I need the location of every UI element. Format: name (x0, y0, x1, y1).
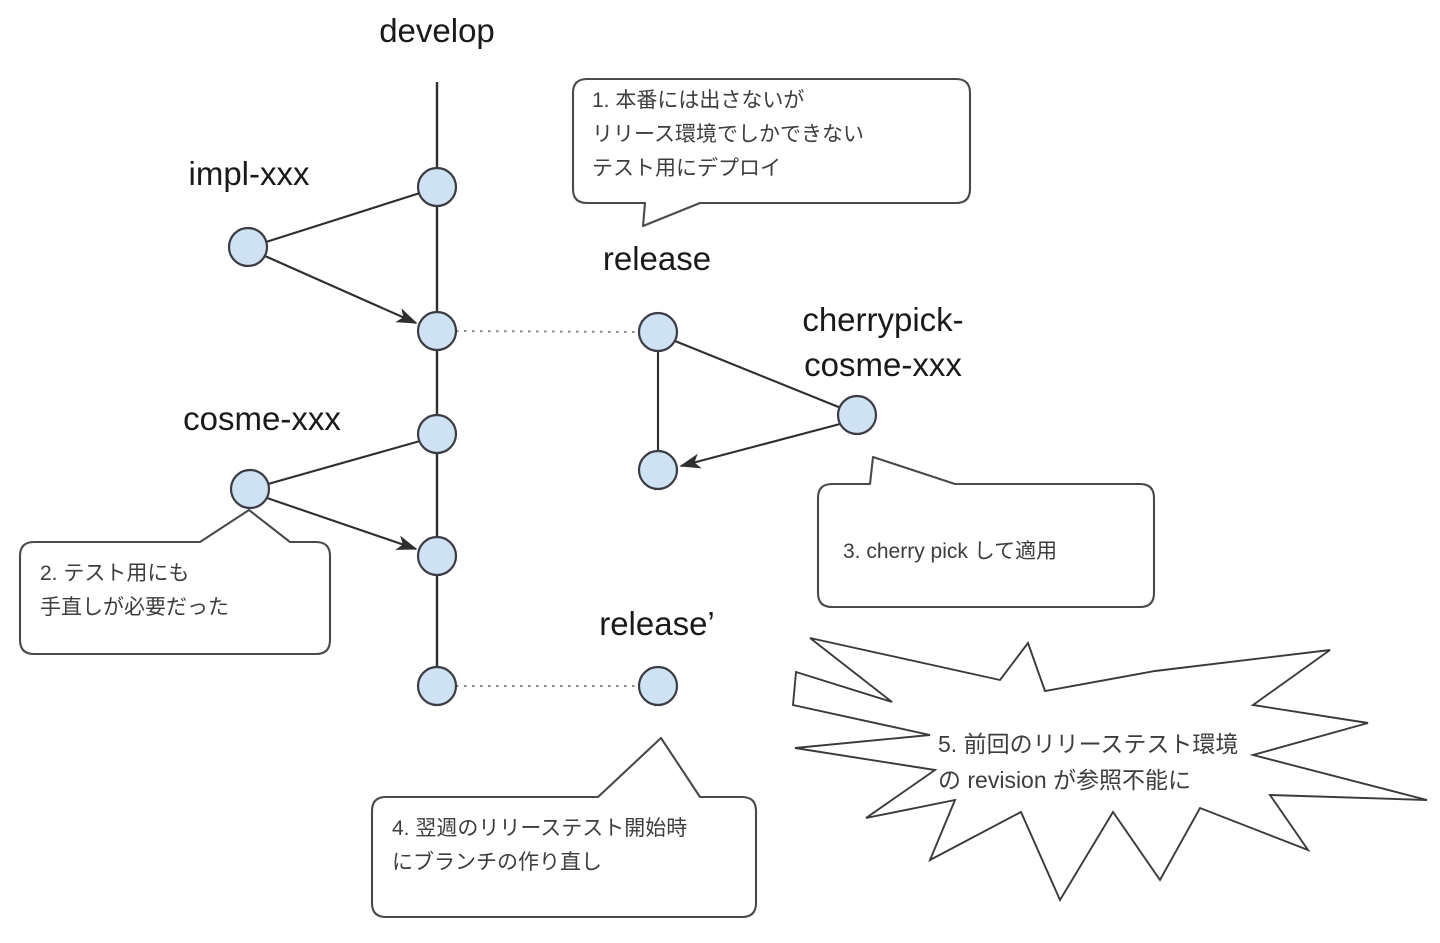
branch-label-release-prime: release’ (599, 605, 715, 642)
callout-2-line-1: 2. テスト用にも (40, 562, 189, 585)
cherrypick-commit-node[interactable] (838, 396, 876, 434)
release-commit-1-node[interactable] (639, 313, 677, 351)
callout-2[interactable]: 2. テスト用にも 手直しが必要だった (20, 510, 330, 654)
release-prime-commit-node[interactable] (639, 667, 677, 705)
develop-commit-5-node[interactable] (418, 667, 456, 705)
git-branch-diagram: develop impl-xxx release cherrypick- cos… (0, 0, 1440, 943)
branch-label-impl-xxx: impl-xxx (189, 155, 310, 192)
branch-label-cherrypick-line1: cherrypick- (802, 301, 963, 338)
cosme-commit-node[interactable] (231, 470, 269, 508)
callout-1-line-2: リリース環境でしかできない (592, 123, 864, 146)
branch-label-release: release (603, 240, 711, 277)
callout-3-line-1: 3. cherry pick して適用 (843, 540, 1057, 563)
branch-label-develop: develop (379, 12, 495, 49)
burst-5-line-2: の revision が参照不能に (938, 767, 1191, 793)
develop-commit-4-node[interactable] (418, 537, 456, 575)
callout-3[interactable]: 3. cherry pick して適用 (818, 457, 1154, 607)
callout-1[interactable]: 1. 本番には出さないが リリース環境でしかできない テスト用にデプロイ (573, 79, 970, 226)
branch-label-cherrypick-line2: cosme-xxx (804, 346, 962, 383)
branch-label-cosme-xxx: cosme-xxx (183, 400, 341, 437)
burst-5[interactable]: 5. 前回のリリーステスト環境 の revision が参照不能に (793, 638, 1427, 900)
cosme-branch-out-edge (268, 441, 420, 484)
cherrypick-merge-in-edge (681, 424, 840, 466)
callout-4-line-1: 4. 翌週のリリーステスト開始時 (392, 817, 687, 840)
callout-3-bubble (818, 457, 1154, 607)
impl-commit-node[interactable] (229, 228, 267, 266)
callout-1-line-1: 1. 本番には出さないが (592, 89, 804, 112)
release-commit-2-node[interactable] (639, 451, 677, 489)
burst-5-line-1: 5. 前回のリリーステスト環境 (938, 731, 1238, 757)
callout-4-line-2: にブランチの作り直し (392, 851, 602, 874)
callout-2-line-2: 手直しが必要だった (40, 596, 229, 619)
develop-commit-1-node[interactable] (418, 168, 456, 206)
diagram-canvas: develop impl-xxx release cherrypick- cos… (0, 0, 1440, 943)
callout-1-line-3: テスト用にデプロイ (592, 157, 781, 180)
develop-commit-3-node[interactable] (418, 415, 456, 453)
develop-to-release-link (456, 331, 639, 332)
callout-4[interactable]: 4. 翌週のリリーステスト開始時 にブランチの作り直し (372, 738, 756, 917)
branch-edges-group (265, 193, 841, 549)
impl-branch-out-edge (266, 193, 420, 242)
develop-commit-2-node[interactable] (418, 312, 456, 350)
impl-merge-in-edge (265, 256, 416, 323)
